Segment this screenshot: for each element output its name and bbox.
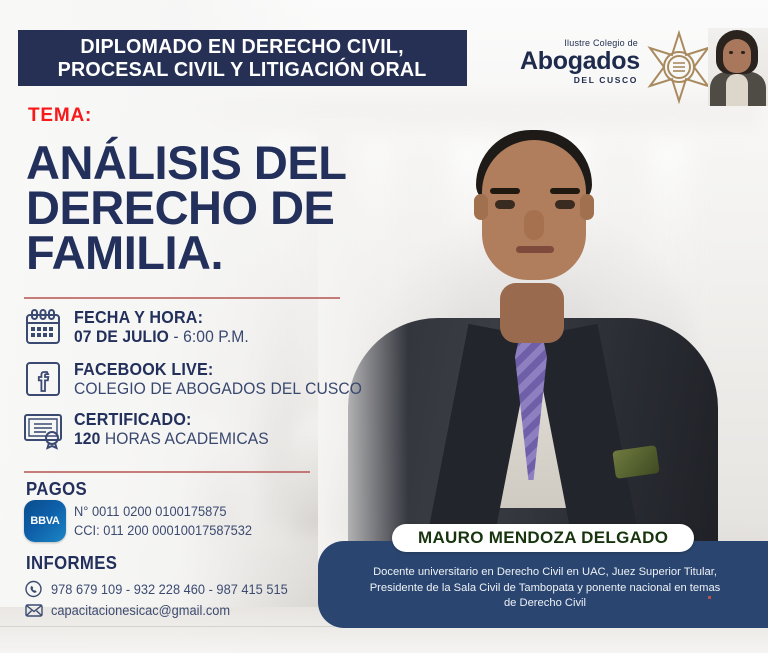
flyer-canvas: DIPLOMADO EN DERECHO CIVIL, PROCESAL CIV… (0, 0, 768, 653)
contact-email-address[interactable]: capacitacionesicac@gmail.com (51, 603, 230, 618)
contact-phone-numbers[interactable]: 978 679 109 - 932 228 460 - 987 415 515 (51, 582, 288, 597)
logo-line-3: DEL CUSCO (520, 75, 638, 85)
header-title: DIPLOMADO EN DERECHO CIVIL, PROCESAL CIV… (58, 35, 427, 81)
speaker-name: MAURO MENDOZA DELGADO (418, 528, 668, 548)
certificate-value: 120 HORAS ACADEMICAS (74, 429, 269, 449)
logo-line-2: Abogados (520, 48, 638, 74)
header-bar: DIPLOMADO EN DERECHO CIVIL, PROCESAL CIV… (18, 30, 467, 86)
info-row-certificate: CERTIFICADO: 120 HORAS ACADEMICAS (22, 410, 286, 450)
envelope-icon (24, 601, 44, 619)
facebook-icon (22, 360, 64, 400)
speaker-description: Docente universitario en Derecho Civil e… (340, 565, 750, 612)
payment-details: N° 0011 0200 0100175875 CCI: 011 200 000… (74, 503, 252, 540)
bbva-logo: BBVA (24, 500, 66, 542)
decorative-dot (708, 596, 711, 599)
logo-portrait (708, 28, 768, 106)
speaker-banner: Docente universitario en Derecho Civil e… (318, 541, 768, 628)
divider-bottom (24, 471, 310, 473)
bank-cci-number: CCI: 011 200 00010017587532 (74, 522, 252, 541)
contact-phone-row: 978 679 109 - 932 228 460 - 987 415 515 (24, 580, 300, 598)
certificate-icon (22, 410, 64, 450)
date-value-rest: - 6:00 P.M. (169, 327, 249, 346)
info-text-date: FECHA Y HORA: 07 DE JULIO - 6:00 P.M. (74, 308, 264, 347)
info-row-facebook: FACEBOOK LIVE: COLEGIO DE ABOGADOS DEL C… (22, 360, 387, 400)
logo-text-block: Ilustre Colegio de Abogados DEL CUSCO (520, 38, 638, 85)
tema-label: TEMA: (28, 105, 92, 127)
payments-heading: PAGOS (26, 479, 87, 500)
bbva-logo-label: BBVA (30, 515, 59, 527)
whatsapp-icon (24, 580, 44, 598)
calendar-icon (22, 308, 64, 348)
star-emblem-icon (642, 30, 716, 104)
certificate-hours: 120 (74, 429, 100, 448)
certificate-heading: CERTIFICADO: (74, 410, 269, 429)
info-row-date: FECHA Y HORA: 07 DE JULIO - 6:00 P.M. (22, 308, 264, 348)
speaker-name-pill: MAURO MENDOZA DELGADO (392, 524, 694, 552)
facebook-heading: FACEBOOK LIVE: (74, 360, 362, 379)
date-heading: FECHA Y HORA: (74, 308, 249, 327)
divider-top (24, 297, 340, 299)
page-title: ANÁLISIS DEL DERECHO DE FAMILIA. (26, 140, 426, 275)
bank-account-number: N° 0011 0200 0100175875 (74, 503, 252, 522)
date-value-bold: 07 DE JULIO (74, 327, 169, 346)
contact-heading: INFORMES (26, 553, 117, 574)
date-value: 07 DE JULIO - 6:00 P.M. (74, 327, 249, 347)
contact-email-row: capacitacionesicac@gmail.com (24, 601, 240, 619)
info-text-facebook: FACEBOOK LIVE: COLEGIO DE ABOGADOS DEL C… (74, 360, 387, 399)
facebook-value: COLEGIO DE ABOGADOS DEL CUSCO (74, 379, 362, 399)
info-text-certificate: CERTIFICADO: 120 HORAS ACADEMICAS (74, 410, 286, 449)
institution-logo: Ilustre Colegio de Abogados DEL CUSCO (520, 28, 760, 106)
certificate-hours-rest: HORAS ACADEMICAS (100, 429, 268, 448)
